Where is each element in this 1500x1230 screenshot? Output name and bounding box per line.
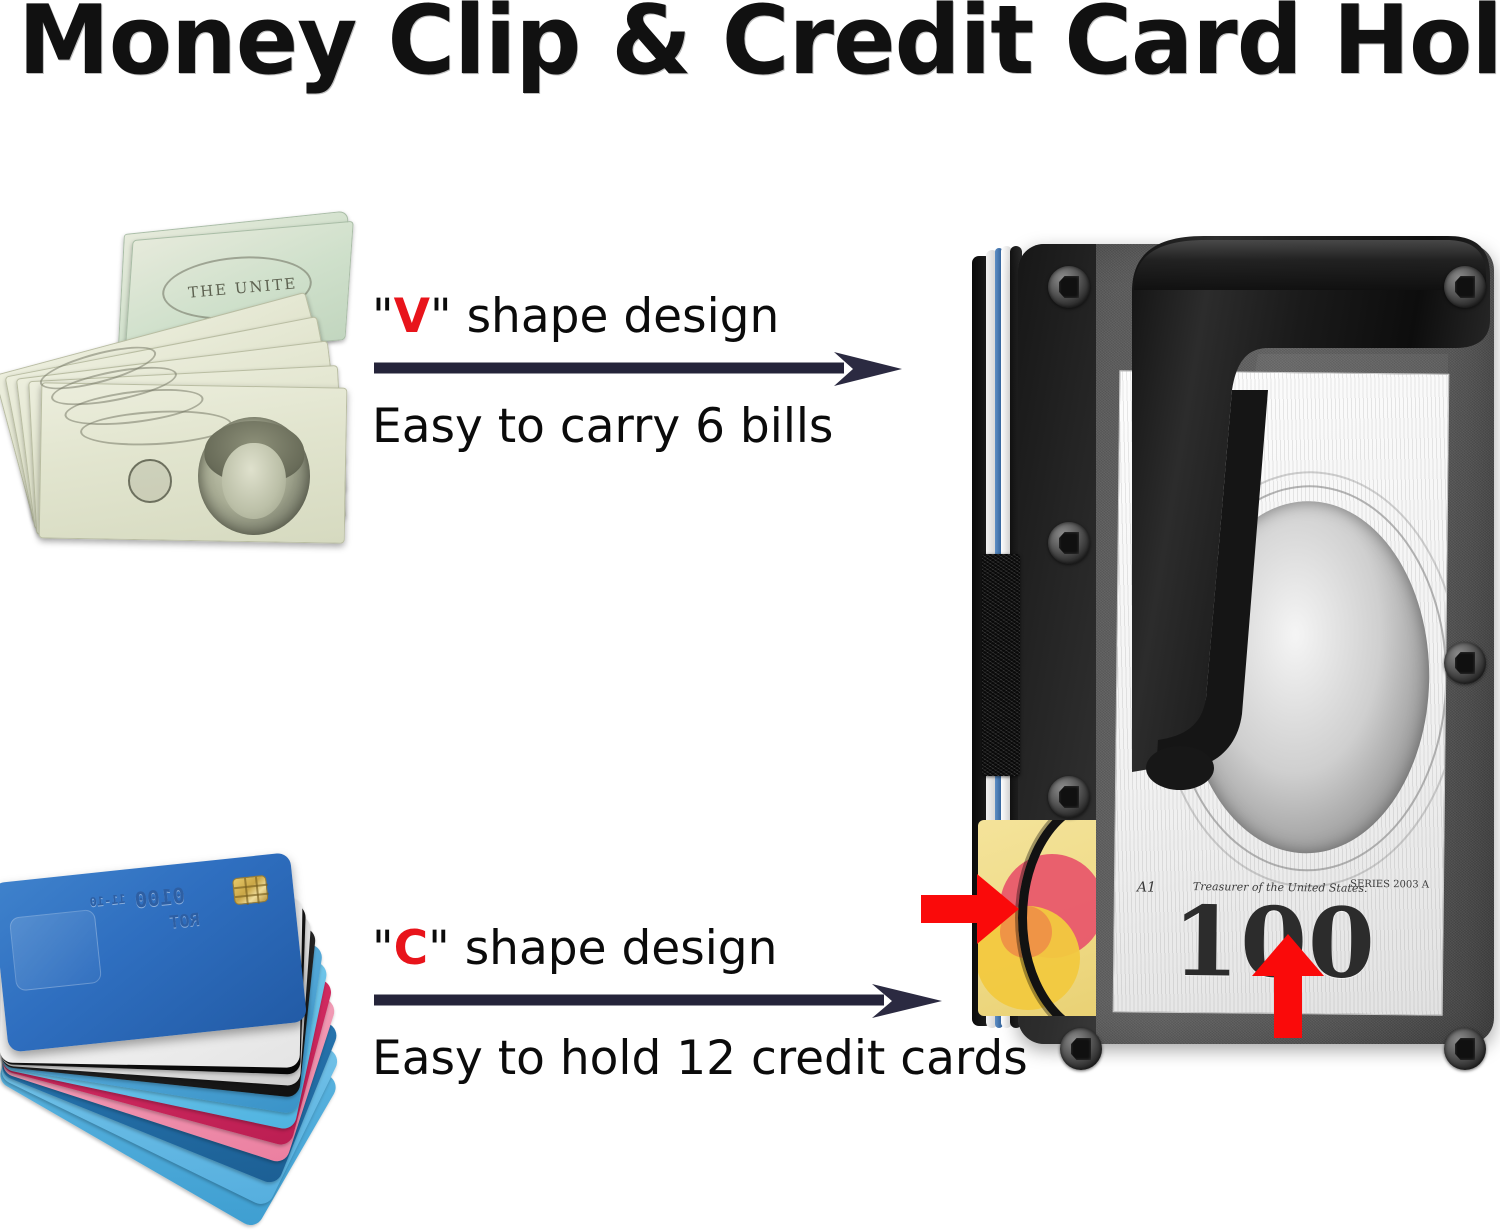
hex-screw xyxy=(1048,776,1090,818)
card-embossed-date: 11-10 xyxy=(89,892,126,910)
money-clip xyxy=(1118,228,1490,988)
top-credit-card: 0100 ROT 11-10 xyxy=(0,852,307,1052)
red-arrow-up xyxy=(1248,934,1328,1038)
hex-screw xyxy=(1444,266,1486,308)
hex-screw xyxy=(1444,1028,1486,1070)
highlight-letter-v: V xyxy=(394,289,430,344)
elastic-band xyxy=(982,554,1020,776)
headline-rest: shape design xyxy=(452,289,780,344)
navy-arrow-v xyxy=(372,352,902,386)
highlight-letter-c: C xyxy=(394,921,429,976)
headline-rest: shape design xyxy=(450,921,778,976)
hex-screw xyxy=(1444,642,1486,684)
feature-c-subline: Easy to hold 12 credit cards xyxy=(372,1028,947,1090)
credit-card-stack-image: 0100 ROT 11-10 xyxy=(0,893,372,1140)
hex-screw xyxy=(1048,266,1090,308)
feature-c-headline: "C" shape design xyxy=(372,918,947,980)
money-clip-wallet-image: A1 Treasurer of the United States. SERIE… xyxy=(966,222,1500,1060)
feature-c-shape: "C" shape design Easy to hold 12 credit … xyxy=(372,918,947,1090)
navy-arrow-c xyxy=(372,984,947,1018)
hex-screw xyxy=(1060,1028,1102,1070)
quote-open: " xyxy=(372,921,394,976)
feature-v-headline: "V" shape design xyxy=(372,286,902,348)
card-embossed-name: ROT xyxy=(169,910,202,933)
card-chip-icon xyxy=(232,875,269,905)
feature-v-shape: "V" shape design Easy to carry 6 bills xyxy=(372,286,902,458)
feature-v-subline: Easy to carry 6 bills xyxy=(372,396,902,458)
hex-screw xyxy=(1048,522,1090,564)
red-arrow-right xyxy=(921,872,1019,946)
quote-close: " xyxy=(428,921,450,976)
quote-open: " xyxy=(372,289,394,344)
money-fan-image: THE UNITE xyxy=(2,205,362,575)
page-title: Money Clip & Credit Card Holder xyxy=(18,0,1444,96)
card-embossed-number: 0100 xyxy=(134,883,187,912)
quote-close: " xyxy=(430,289,452,344)
